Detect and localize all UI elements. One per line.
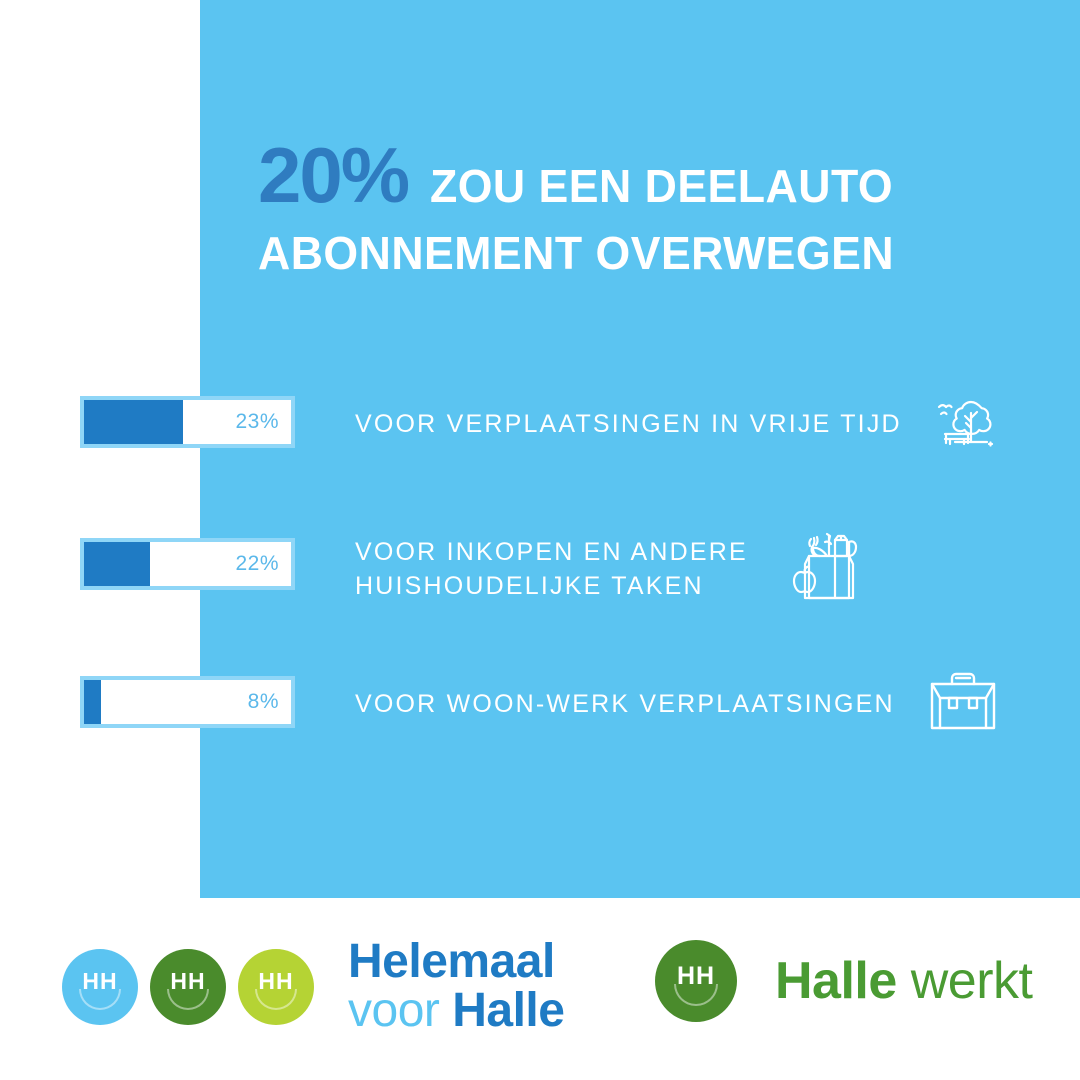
infographic-canvas: 20% ZOU EEN DEELAUTO ABONNEMENT OVERWEGE… bbox=[0, 0, 1080, 1080]
progress-bar-fill bbox=[84, 400, 183, 444]
smiley-icon-blue: HH bbox=[62, 949, 138, 1025]
progress-bar-value: 23% bbox=[235, 410, 279, 434]
progress-bar-fill bbox=[84, 680, 101, 724]
headline-text-line-2: ABONNEMENT OVERWEGEN bbox=[258, 230, 1024, 276]
wordmark-halle: Halle bbox=[775, 952, 897, 1010]
headline-line-1: 20% ZOU EEN DEELAUTO bbox=[258, 136, 1048, 220]
progress-bar-track: 22% bbox=[80, 538, 295, 590]
progress-bar-track: 8% bbox=[80, 676, 295, 728]
footer-logo-bar: HH HH HH Helemaal voor Halle HH bbox=[0, 898, 1080, 1080]
halle-werkt-wordmark: Halle werkt bbox=[775, 951, 1033, 1011]
smiley-icon-lime: HH bbox=[238, 949, 314, 1025]
wordmark-werkt: werkt bbox=[911, 952, 1033, 1010]
stat-row-label: VOOR WOON-WERK VERPLAATSINGEN bbox=[355, 688, 895, 722]
park-tree-bench-icon bbox=[925, 382, 1005, 467]
stat-row: 8% VOOR WOON-WERK VERPLAATSINGEN bbox=[0, 660, 1080, 750]
headline-block: 20% ZOU EEN DEELAUTO ABONNEMENT OVERWEGE… bbox=[258, 136, 1048, 276]
briefcase-icon bbox=[920, 662, 1006, 743]
smiley-mouth-icon bbox=[79, 989, 121, 1010]
stat-row: 22% VOOR INKOPEN EN ANDERE HUISHOUDELIJK… bbox=[0, 518, 1080, 616]
helemaal-voor-halle-wordmark: Helemaal voor Halle bbox=[348, 938, 564, 1036]
smiley-mouth-icon bbox=[674, 984, 718, 1006]
smiley-icon-green: HH bbox=[150, 949, 226, 1025]
smiley-mouth-icon bbox=[255, 989, 297, 1010]
stat-row-label: VOOR INKOPEN EN ANDERE HUISHOUDELIJKE TA… bbox=[355, 536, 748, 604]
headline-text-line-1: ZOU EEN DEELAUTO bbox=[430, 163, 893, 209]
stat-percentage: 20% bbox=[258, 136, 408, 214]
progress-bar-value: 22% bbox=[235, 552, 279, 576]
progress-bar-fill bbox=[84, 542, 150, 586]
smiley-icon-green: HH bbox=[655, 940, 737, 1022]
wordmark-halle: Halle bbox=[452, 984, 564, 1037]
progress-bar-track: 23% bbox=[80, 396, 295, 448]
helemaal-voor-halle-logo[interactable]: HH HH HH Helemaal voor Halle bbox=[62, 938, 564, 1036]
progress-bar-value: 8% bbox=[248, 690, 279, 714]
wordmark-voor: voor bbox=[348, 984, 439, 1037]
stat-row: 23% VOOR VERPLAATSINGEN IN VRIJE TIJD bbox=[0, 380, 1080, 470]
grocery-bag-icon bbox=[783, 518, 865, 611]
wordmark-line-1: Helemaal bbox=[348, 938, 564, 987]
halle-werkt-logo[interactable]: HH Halle werkt bbox=[655, 940, 1033, 1022]
stat-row-label: VOOR VERPLAATSINGEN IN VRIJE TIJD bbox=[355, 408, 902, 442]
smiley-mouth-icon bbox=[167, 989, 209, 1010]
wordmark-line-2: voor Halle bbox=[348, 987, 564, 1036]
